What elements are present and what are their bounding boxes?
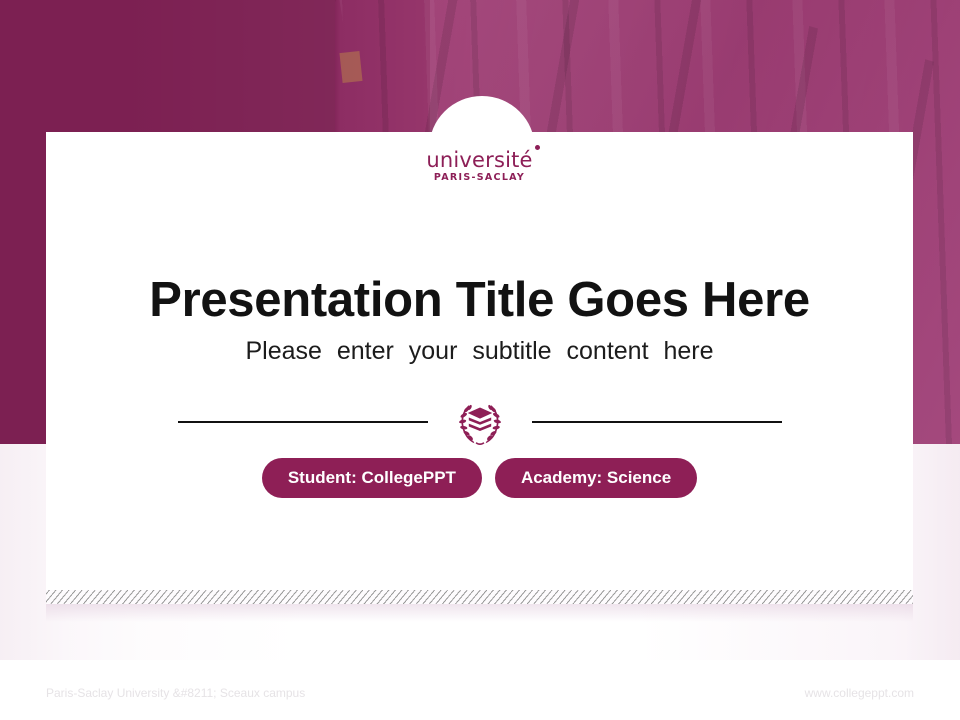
divider-line-right [532,421,782,423]
badge-academy[interactable]: Academy: Science [495,458,697,498]
slide-title: Presentation Title Goes Here [46,272,913,328]
university-logo: université PARIS-SACLAY [46,150,913,183]
presentation-slide: université PARIS-SACLAY Presentation Tit… [0,0,960,720]
logo-dot-icon [535,145,540,150]
slide-subtitle: Please enter your subtitle content here [46,337,913,366]
badge-group: Student: CollegePPT Academy: Science [46,458,913,498]
divider-line-left [178,421,428,423]
logo-subline: PARIS-SACLAY [426,173,532,183]
card-drop-shadow [46,604,913,622]
footer-website-right: www.collegeppt.com [805,686,914,700]
divider-row [46,394,913,450]
logo-mark: université PARIS-SACLAY [426,150,532,183]
badge-student[interactable]: Student: CollegePPT [262,458,482,498]
photo-warm-accent [339,51,362,83]
graduation-laurel-emblem-icon [452,394,508,450]
footer-caption-left: Paris-Saclay University &#8211; Sceaux c… [46,686,305,700]
hatched-decor-strip [46,590,913,604]
logo-wordmark: université [426,150,532,171]
